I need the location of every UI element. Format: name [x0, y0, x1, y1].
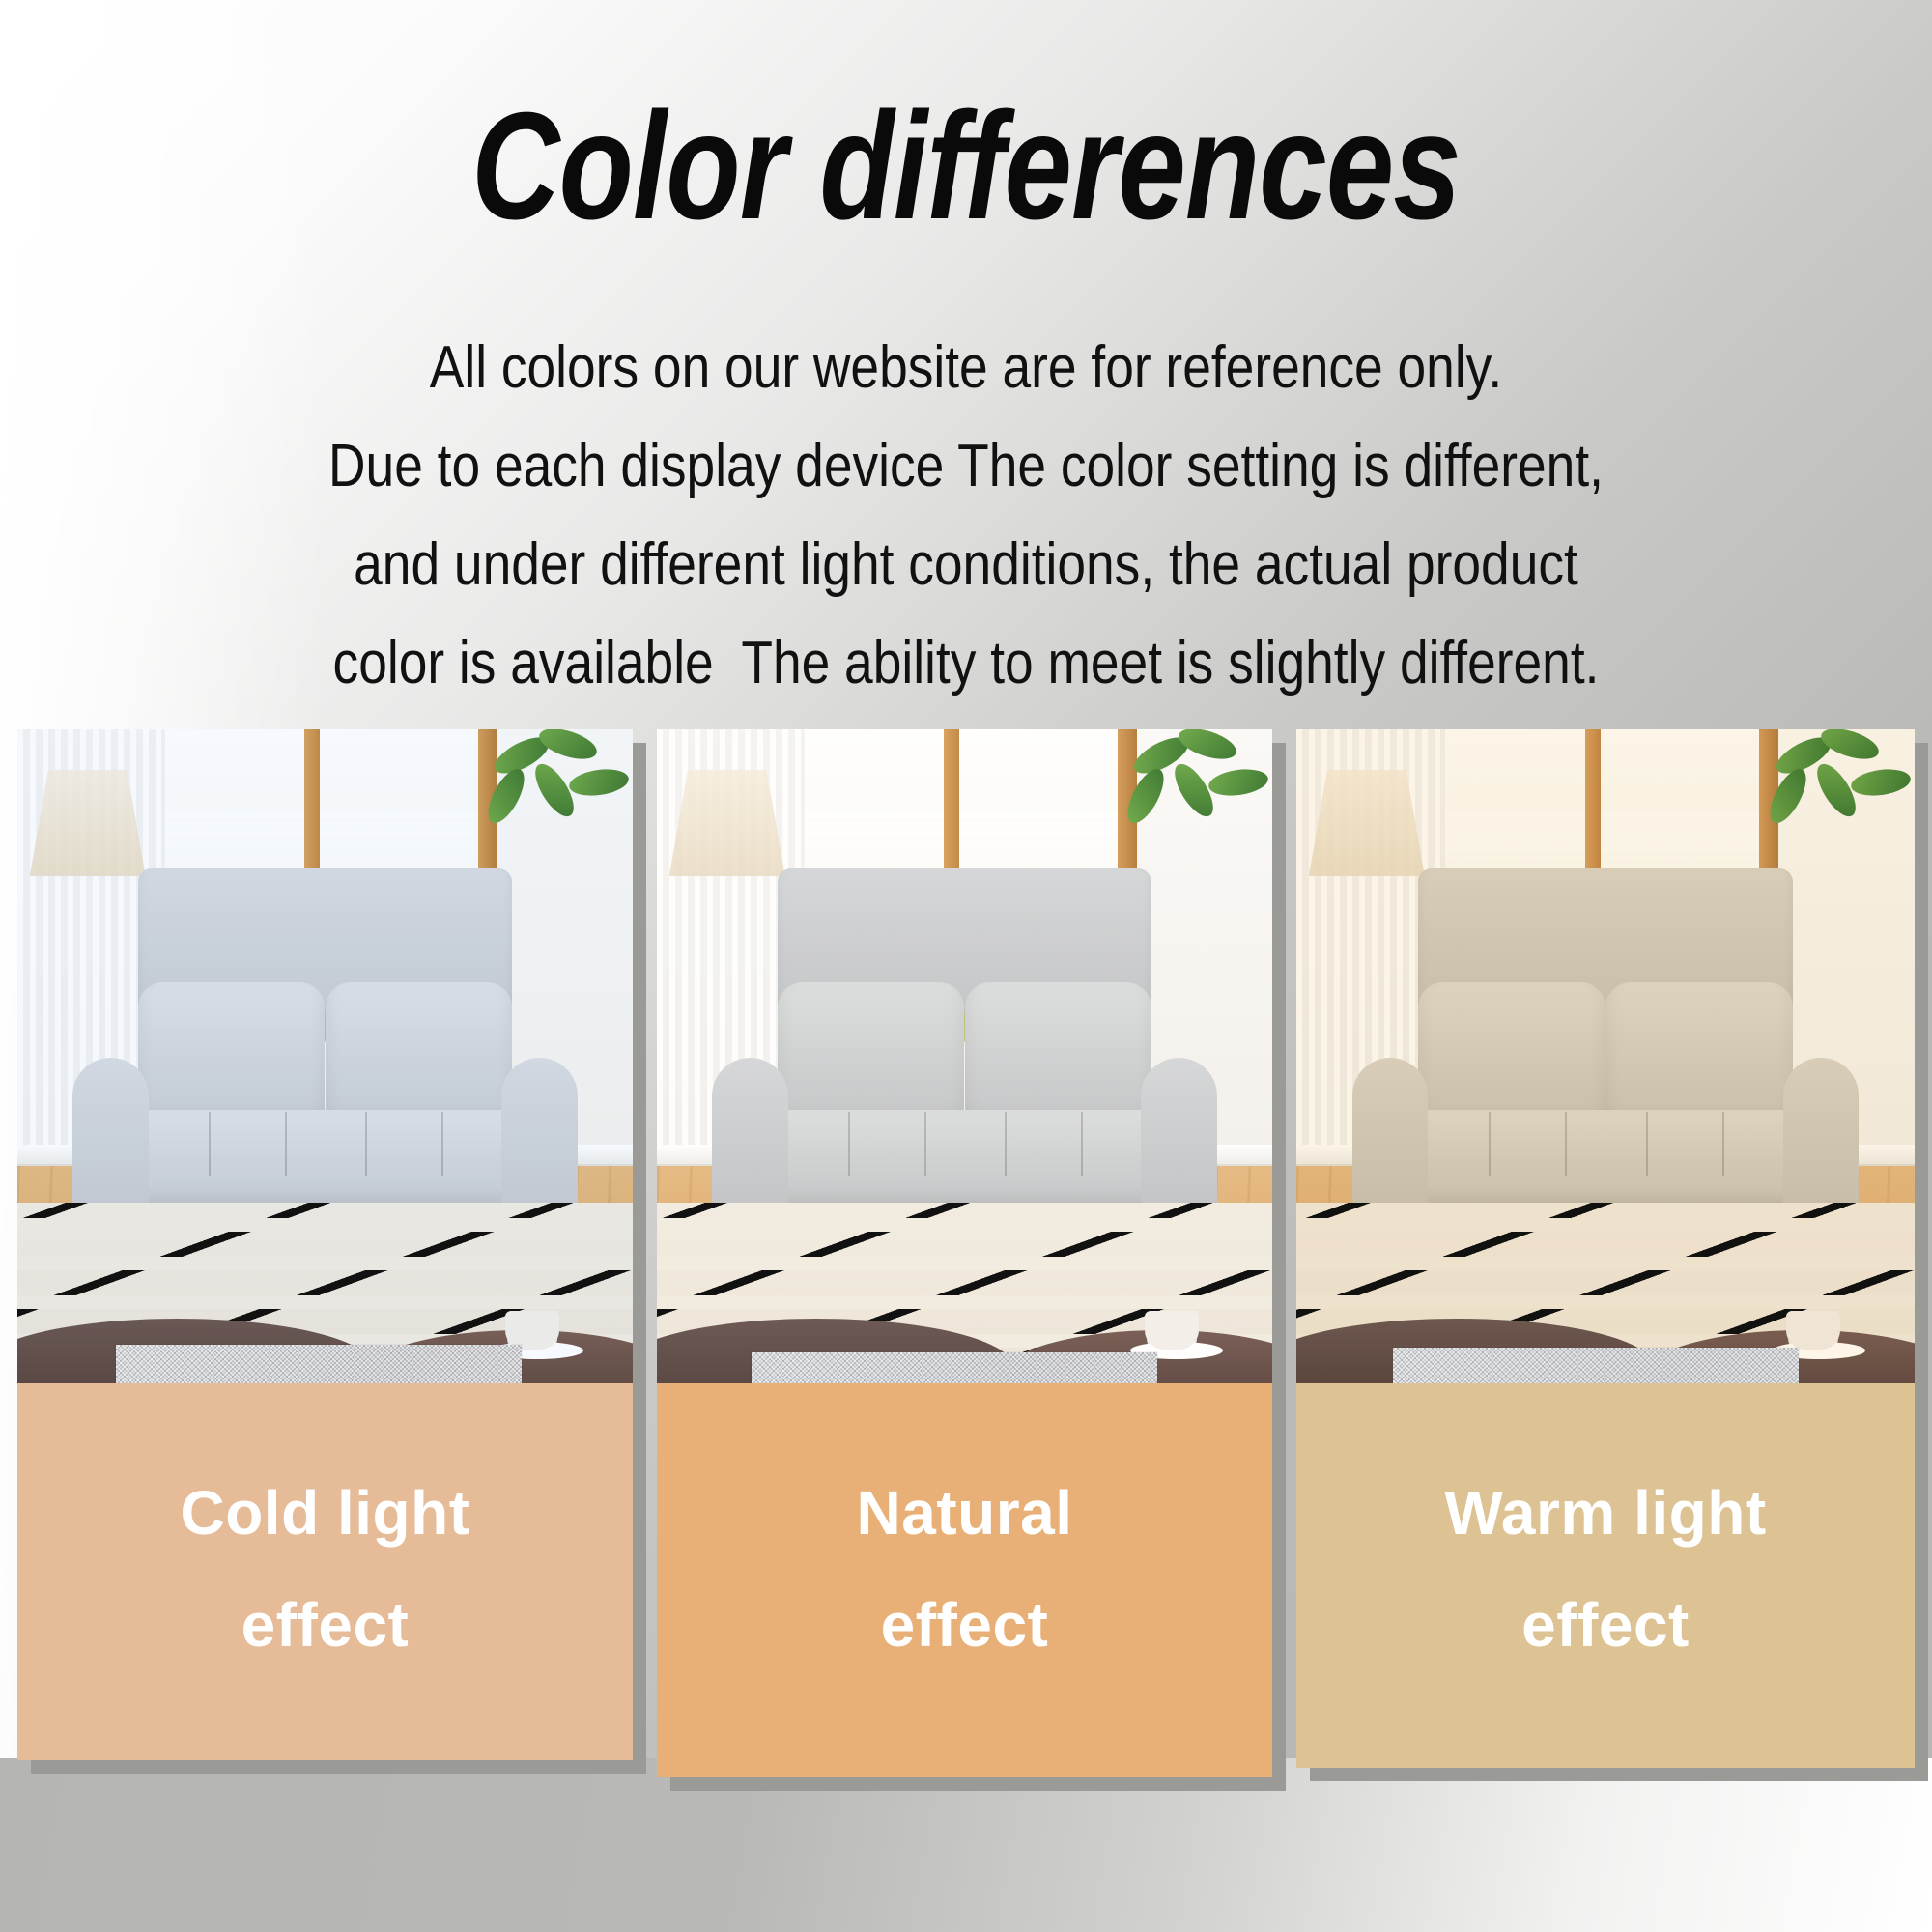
panel-shadow-right	[1915, 743, 1928, 1781]
panel-shadow-right	[633, 743, 646, 1774]
sofa-pillow-right	[326, 982, 512, 1127]
room-photo-warm	[1296, 729, 1915, 1384]
panel-label-line-2: effect	[881, 1569, 1049, 1681]
panel-warm-light[interactable]: Warm light effect	[1296, 729, 1915, 1768]
room-photo-cold	[17, 729, 633, 1384]
sofa-pillow-left	[778, 982, 964, 1127]
panel-natural-light[interactable]: Natural effect	[657, 729, 1272, 1777]
disclaimer-line-2: Due to each display device The color set…	[135, 417, 1797, 516]
page-title: Color differences	[193, 89, 1739, 243]
panel-label-cold: Cold light effect	[17, 1383, 633, 1760]
sofa-pillow-right	[1605, 982, 1793, 1127]
panel-label-warm: Warm light effect	[1296, 1383, 1915, 1768]
panel-label-natural: Natural effect	[657, 1383, 1272, 1777]
floor-lamp	[30, 770, 146, 876]
panel-shadow-bottom	[1310, 1768, 1928, 1781]
panel-shadow-right	[1272, 743, 1286, 1791]
sofa-pillow-left	[1418, 982, 1605, 1127]
disclaimer-line-1: All colors on our website are for refere…	[135, 319, 1797, 417]
sofa-pillow-right	[965, 982, 1151, 1127]
panel-label-line-2: effect	[1521, 1569, 1690, 1681]
panel-shadow-bottom	[31, 1760, 646, 1774]
sofa-seat-cushion	[1407, 1110, 1803, 1207]
coffee-cup	[505, 1311, 559, 1350]
disclaimer-text: All colors on our website are for refere…	[0, 319, 1932, 713]
panel-label-line-1: Cold light	[180, 1457, 469, 1569]
room-photo-natural	[657, 729, 1272, 1384]
coffee-cup	[1145, 1311, 1199, 1350]
sofa-pillow-left	[138, 982, 325, 1127]
sofa-seat-cushion	[128, 1110, 522, 1207]
coffee-cup	[1786, 1311, 1840, 1350]
disclaimer-line-4: color is available The ability to meet i…	[135, 614, 1797, 713]
disclaimer-line-3: and under different light conditions, th…	[135, 516, 1797, 614]
header-section: Color differences All colors on our webs…	[0, 0, 1932, 729]
comparison-panels: Cold light effect	[0, 729, 1932, 1792]
panel-shadow-bottom	[670, 1777, 1286, 1791]
panel-cold-light[interactable]: Cold light effect	[17, 729, 633, 1760]
floor-lamp	[669, 770, 785, 876]
panel-label-line-1: Warm light	[1444, 1457, 1766, 1569]
panel-label-line-2: effect	[241, 1569, 410, 1681]
panel-label-line-1: Natural	[857, 1457, 1073, 1569]
sofa-seat-cushion	[768, 1110, 1161, 1207]
floor-lamp	[1309, 770, 1425, 876]
